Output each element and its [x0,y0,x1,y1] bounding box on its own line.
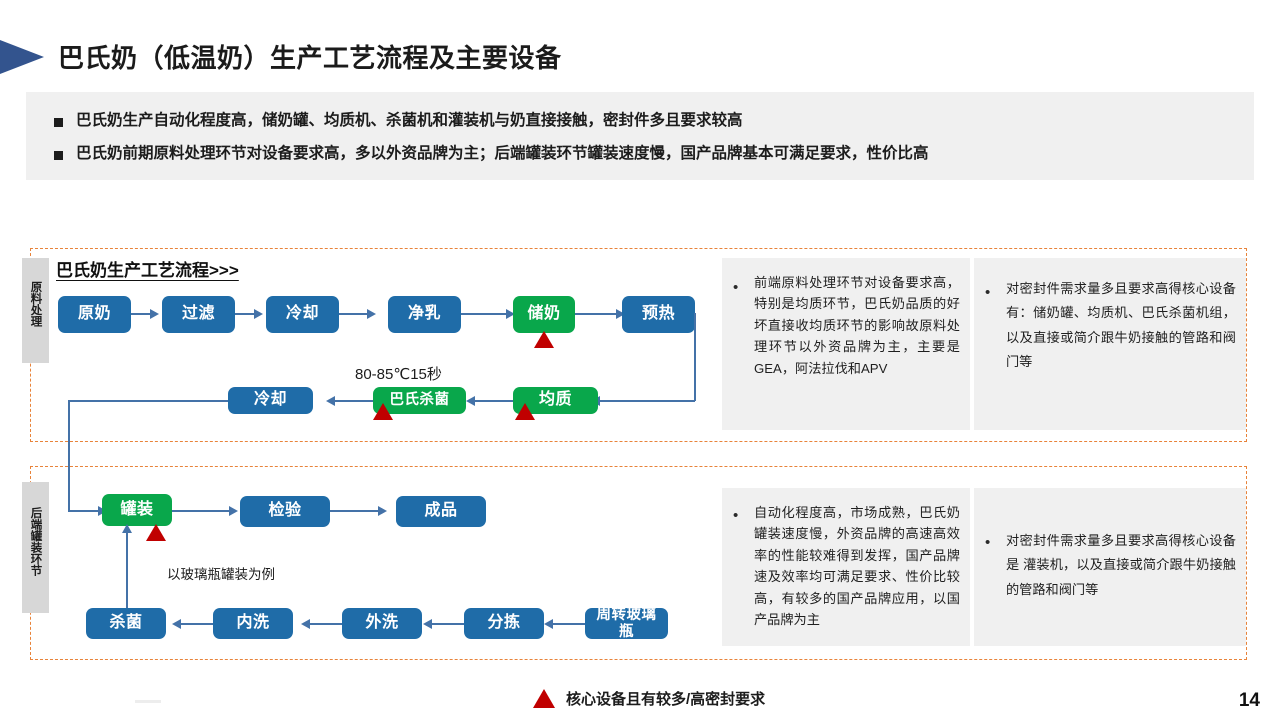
arrow-up-icon [122,524,132,533]
flow-heading: 巴氏奶生产工艺流程>>> [56,256,239,281]
note-box-filling-right: • 对密封件需求量多且要求高得核心设备是 灌装机，以及直接或简介跟牛奶接触的管路… [974,488,1246,646]
arrow-left-icon [301,619,310,629]
page-title: 巴氏奶（低温奶）生产工艺流程及主要设备 [58,38,562,75]
temperature-annotation: 80-85℃15秒 [355,363,442,384]
summary-bullet-text: 巴氏奶生产自动化程度高，储奶罐、均质机、杀菌机和灌装机与奶直接接触，密封件多且要… [76,112,743,131]
bullet-dot-icon: • [985,535,990,550]
arrow-left-icon [172,619,181,629]
process-node-yuannai[interactable]: 原奶 [58,296,131,333]
side-tab-label: 原料处理 [22,258,49,350]
arrow-right-icon [150,309,159,319]
red-triangle-icon [534,331,554,348]
note-text: 前端原料处理环节对设备要求高，特别是均质环节，巴氏奶品质的好坏直接收均质环节的影… [754,272,960,379]
arrow-left-icon [326,396,335,406]
process-node-label: 周转玻璃瓶 [592,607,662,640]
arrow-right-icon [229,506,238,516]
example-annotation: 以玻璃瓶罐装为例 [167,563,275,583]
note-box-raw-material-left: • 前端原料处理环节对设备要求高，特别是均质环节，巴氏奶品质的好坏直接收均质环节… [722,258,970,430]
note-box-filling-left: • 自动化程度高，市场成熟，巴氏奶罐装速度慢，外资品牌的高速高效率的性能较难得到… [722,488,970,646]
footer-divider [135,700,161,703]
arrow-left-icon [423,619,432,629]
process-node-chunai[interactable]: 储奶 [513,296,575,333]
bullet-dot-icon: • [733,508,738,523]
arrow-left-icon [466,396,475,406]
process-node-fenjian[interactable]: 分拣 [464,608,544,639]
chevron-down-icon [22,600,48,613]
slide-root: 巴氏奶（低温奶）生产工艺流程及主要设备 巴氏奶生产自动化程度高，储奶罐、均质机、… [0,0,1280,720]
arrow-right-icon [254,309,263,319]
process-node-neixi[interactable]: 内洗 [213,608,293,639]
process-node-guolv[interactable]: 过滤 [162,296,235,333]
side-tab-filling: 后端罐装环节 [22,482,49,613]
note-text: 对密封件需求量多且要求高得核心设备是 灌装机，以及直接或简介跟牛奶接触的管路和阀… [1006,502,1236,602]
side-tab-raw-material: 原料处理 [22,258,49,363]
red-triangle-icon [515,403,535,420]
red-triangle-icon [146,524,166,541]
process-node-yure[interactable]: 预热 [622,296,695,333]
summary-bullet-row: 巴氏奶生产自动化程度高，储奶罐、均质机、杀菌机和灌装机与奶直接接触，密封件多且要… [54,112,743,131]
arrow-right-icon [378,506,387,516]
process-node-lengque[interactable]: 冷却 [266,296,339,333]
triangle-right-icon [0,40,44,74]
bullet-dot-icon: • [733,280,738,295]
process-node-lengque-2[interactable]: 冷却 [228,387,313,414]
summary-bullet-text: 巴氏奶前期原料处理环节对设备要求高，多以外资品牌为主；后端罐装环节罐装速度慢，国… [76,145,929,164]
square-bullet-icon [54,151,63,160]
note-text: 自动化程度高，市场成熟，巴氏奶罐装速度慢，外资品牌的高速高效率的性能较难得到发挥… [754,502,960,630]
arrow-right-icon [367,309,376,319]
process-node-jianyan[interactable]: 检验 [240,496,330,527]
note-box-raw-material-right: • 对密封件需求量多且要求高得核心设备有：储奶罐、均质机、巴氏杀菌机组，以及直接… [974,258,1246,430]
bullet-dot-icon: • [985,285,990,300]
red-triangle-icon [373,403,393,420]
process-node-zhouzhuan-boliping[interactable]: 周转玻璃瓶 [585,608,668,639]
note-text: 对密封件需求量多且要求高得核心设备有：储奶罐、均质机、巴氏杀菌机组，以及直接或简… [1006,272,1236,375]
chevron-down-icon [22,350,48,363]
side-tab-label: 后端罐装环节 [22,482,49,600]
arrow-left-icon [544,619,553,629]
process-node-guanzhuang[interactable]: 罐装 [102,494,172,526]
summary-band: 巴氏奶生产自动化程度高，储奶罐、均质机、杀菌机和灌装机与奶直接接触，密封件多且要… [26,92,1254,180]
red-triangle-icon [533,689,555,708]
summary-bullet-row: 巴氏奶前期原料处理环节对设备要求高，多以外资品牌为主；后端罐装环节罐装速度慢，国… [54,145,929,164]
process-node-chengpin[interactable]: 成品 [396,496,486,527]
square-bullet-icon [54,118,63,127]
process-node-jingru[interactable]: 净乳 [388,296,461,333]
page-number: 14 [1239,690,1260,712]
slide-header: 巴氏奶（低温奶）生产工艺流程及主要设备 [0,18,1280,70]
legend: 核心设备且有较多/高密封要求 [533,688,765,709]
legend-label: 核心设备且有较多/高密封要求 [566,688,765,709]
process-node-waixi[interactable]: 外洗 [342,608,422,639]
process-node-shajun[interactable]: 杀菌 [86,608,166,639]
